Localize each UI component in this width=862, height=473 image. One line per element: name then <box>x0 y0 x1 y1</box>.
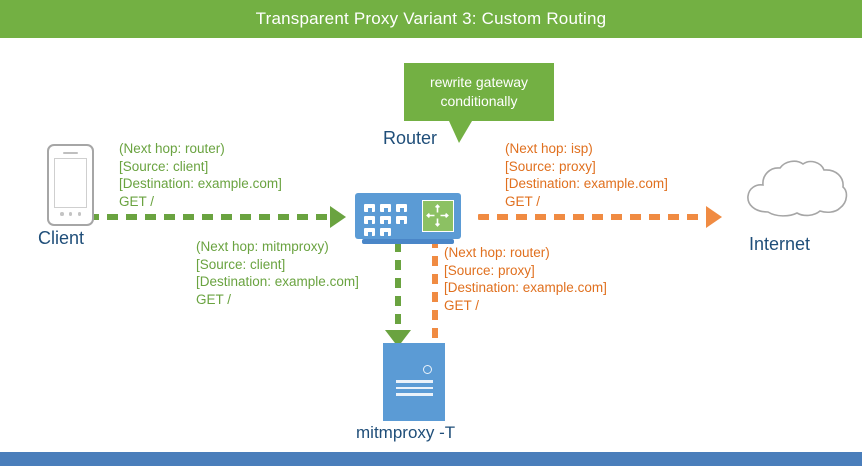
message-source: [Source: proxy] <box>444 262 607 280</box>
message-source: [Source: proxy] <box>505 158 668 176</box>
flow-router-to-internet-line <box>478 214 706 220</box>
flow-router-to-internet-arrowhead <box>706 206 722 228</box>
message-next-hop: (Next hop: isp) <box>505 140 668 158</box>
message-request: GET / <box>196 291 359 309</box>
message-request: GET / <box>119 193 282 211</box>
server-indicator <box>423 365 432 374</box>
cloud-icon <box>742 158 850 220</box>
phone-buttons <box>60 212 81 216</box>
message-next-hop: (Next hop: mitmproxy) <box>196 238 359 256</box>
message-source: [Source: client] <box>196 256 359 274</box>
router-base <box>362 239 454 244</box>
message-router-to-internet: (Next hop: isp) [Source: proxy] [Destina… <box>505 140 668 210</box>
router-ports <box>364 204 420 236</box>
footer-bar <box>0 452 862 466</box>
router-icon <box>355 193 461 239</box>
phone-screen <box>54 158 87 208</box>
node-label-router: Router <box>383 128 437 149</box>
flow-client-to-router-line <box>88 214 330 220</box>
message-next-hop: (Next hop: router) <box>119 140 282 158</box>
callout-line-2: conditionally <box>416 92 542 111</box>
server-icon <box>383 343 445 421</box>
diagram-canvas: Client Router rewrite gateway conditiona… <box>0 38 862 452</box>
message-destination: [Destination: example.com] <box>505 175 668 193</box>
message-router-to-mitmproxy: (Next hop: mitmproxy) [Source: client] [… <box>196 238 359 308</box>
callout-rewrite-gateway: rewrite gateway conditionally <box>404 63 554 121</box>
message-destination: [Destination: example.com] <box>119 175 282 193</box>
server-slots <box>396 380 433 400</box>
router-routing-icon <box>422 200 454 232</box>
message-source: [Source: client] <box>119 158 282 176</box>
message-mitmproxy-to-router: (Next hop: router) [Source: proxy] [Dest… <box>444 244 607 314</box>
page-title: Transparent Proxy Variant 3: Custom Rout… <box>256 9 607 29</box>
message-destination: [Destination: example.com] <box>196 273 359 291</box>
message-destination: [Destination: example.com] <box>444 279 607 297</box>
smartphone-icon <box>47 144 94 226</box>
message-request: GET / <box>444 297 607 315</box>
node-label-mitmproxy: mitmproxy -T <box>356 423 455 443</box>
message-next-hop: (Next hop: router) <box>444 244 607 262</box>
node-label-internet: Internet <box>749 234 810 255</box>
message-request: GET / <box>505 193 668 211</box>
callout-tail <box>449 121 472 143</box>
flow-client-to-router-arrowhead <box>330 206 346 228</box>
phone-speaker <box>63 152 78 154</box>
header-bar: Transparent Proxy Variant 3: Custom Rout… <box>0 0 862 38</box>
message-client-to-router: (Next hop: router) [Source: client] [Des… <box>119 140 282 210</box>
node-label-client: Client <box>38 228 84 249</box>
callout-line-1: rewrite gateway <box>416 73 542 92</box>
